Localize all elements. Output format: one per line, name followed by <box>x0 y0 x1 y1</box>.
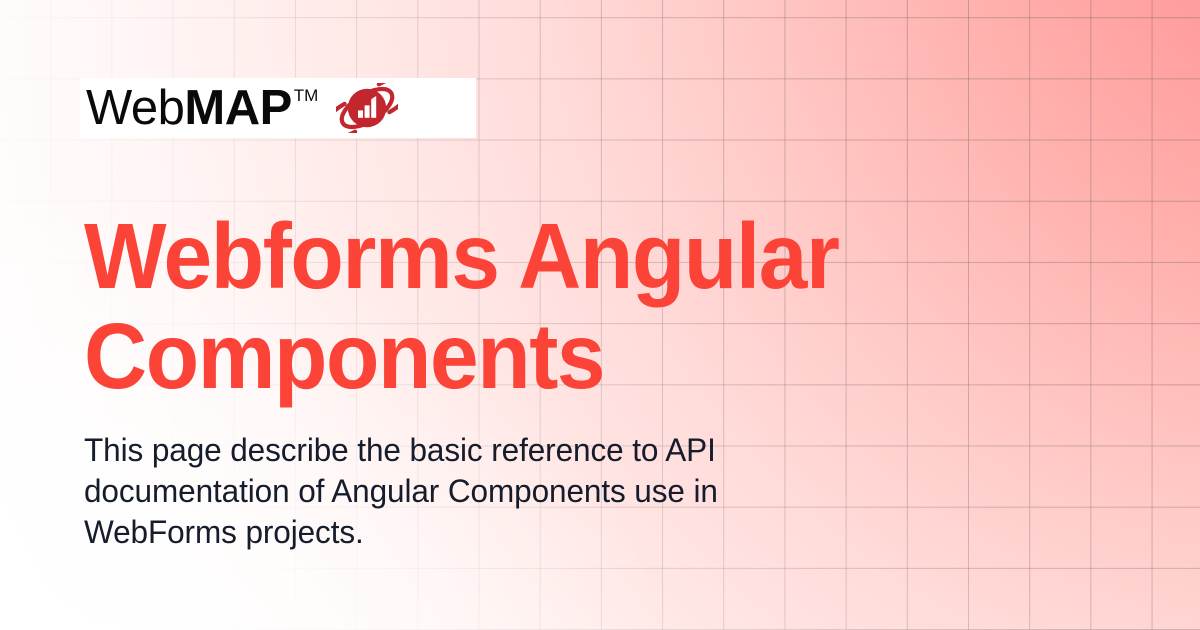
webmap-logo: WebMAPTM <box>80 78 476 138</box>
og-card: WebMAPTM Webf <box>0 0 1200 630</box>
logo-wordmark: WebMAPTM <box>86 84 318 133</box>
logo-word-web: Web <box>86 84 184 133</box>
card-content: WebMAPTM Webf <box>0 0 1200 630</box>
page-description: This page describe the basic reference t… <box>84 430 821 553</box>
page-title: Webforms Angular Components <box>84 206 845 406</box>
trademark-symbol: TM <box>294 87 319 104</box>
webmap-globe-chart-icon <box>336 83 398 133</box>
logo-word-map: MAP <box>184 84 291 133</box>
